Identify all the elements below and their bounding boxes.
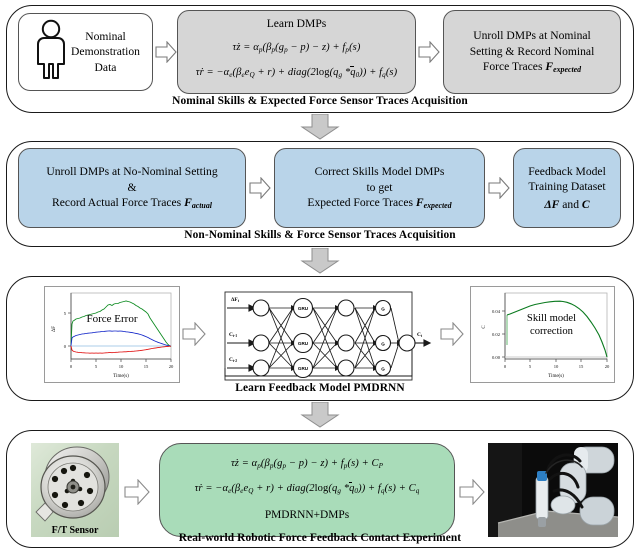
pmdrnn-dmps-caption: PMDRNN+DMPs xyxy=(265,508,349,523)
learn-dmps-heading: Learn DMPs xyxy=(267,16,327,32)
unroll-no-nominal-symbol: Factual xyxy=(184,196,212,209)
section-title-nominal: Nominal Skills & Expected Force Sensor T… xyxy=(0,95,640,107)
correct-symbol: Fexpected xyxy=(416,196,452,209)
box-nominal-demonstration: Nominal Demonstration Data xyxy=(18,13,153,91)
learn-dmps-equation-1: τż = αp(βp(gp − p) − z) + fp(s) xyxy=(233,41,361,55)
svg-text:G: G xyxy=(381,342,385,347)
arrow-network-to-correction-chart xyxy=(440,322,464,346)
svg-text:GRU: GRU xyxy=(298,366,309,371)
svg-text:ΔF: ΔF xyxy=(52,326,57,332)
svg-text:10: 10 xyxy=(554,364,559,369)
svg-text:10: 10 xyxy=(119,364,124,369)
section-title-non-nominal: Non-Nominal Skills & Force Sensor Traces… xyxy=(0,229,640,241)
unroll-no-nominal-line-3-text: Record Actual Force Traces xyxy=(52,196,181,209)
svg-text:15: 15 xyxy=(579,364,584,369)
dataset-line-1: Feedback Model xyxy=(528,164,606,180)
svg-text:ΔFt: ΔFt xyxy=(231,297,240,303)
unroll-nominal-symbol: Fexpected xyxy=(545,60,581,73)
arrow-correct-to-dataset xyxy=(488,177,510,199)
svg-text:20: 20 xyxy=(169,364,174,369)
box-feedback-dataset: Feedback Model Training Dataset ΔF and C xyxy=(513,148,621,228)
svg-text:GRU: GRU xyxy=(298,306,309,311)
correction-caption-line-2: correction xyxy=(530,326,573,337)
learn-dmps-equation-2: τṙ = −αe(βeeQ + r) + diag(2log(qg *q0)) … xyxy=(196,66,397,80)
demo-line-1: Nominal xyxy=(85,30,126,43)
unroll-no-nominal-line-3: Record Actual Force Traces Factual xyxy=(52,195,212,212)
dataset-line-2: Training Dataset xyxy=(528,179,605,195)
chart-skill-model-correction: 0 5 10 15 20 Time(s) 0.00 0.02 0.04 C Sk… xyxy=(470,286,615,383)
svg-text:Time(s): Time(s) xyxy=(548,374,564,379)
box-nominal-demonstration-label: Nominal Demonstration Data xyxy=(71,29,140,76)
svg-text:G: G xyxy=(381,307,385,312)
chart-force-error: 0 5 10 15 20 Time(s) 0 5 ΔF Force Error xyxy=(44,286,180,383)
correct-line-3-text: Expected Force Traces xyxy=(307,196,413,209)
svg-text:Ct: Ct xyxy=(417,332,423,338)
box-correct-skills-model: Correct Skills Model DMPs to get Expecte… xyxy=(274,148,485,228)
image-ft-sensor: F/T Sensor xyxy=(31,443,119,537)
svg-text:15: 15 xyxy=(144,364,149,369)
person-icon xyxy=(33,19,69,86)
unroll-nominal-line-1: Unroll DMPs at Nominal xyxy=(473,28,591,44)
experiment-equation-1: τż = αp(βp(gp − p) − z) + fp(s) + CP xyxy=(231,457,383,471)
dataset-symbol: ΔF and C xyxy=(544,197,589,213)
section-title-experiment: Real-world Robotic Force Feedback Contac… xyxy=(0,532,640,544)
unroll-no-nominal-line-1: Unroll DMPs at No-Nominal Setting xyxy=(46,164,217,180)
correct-line-3: Expected Force Traces Fexpected xyxy=(307,195,451,212)
svg-text:Time(s): Time(s) xyxy=(113,374,129,379)
svg-text:Ct-1: Ct-1 xyxy=(229,332,237,338)
box-unroll-no-nominal: Unroll DMPs at No-Nominal Setting & Reco… xyxy=(18,148,246,228)
box-learn-dmps: Learn DMPs τż = αp(βp(gp − p) − z) + fp(… xyxy=(177,10,416,94)
unroll-no-nominal-line-2: & xyxy=(127,180,136,196)
correct-line-2: to get xyxy=(366,180,392,196)
correction-caption-line-1: Skill model xyxy=(527,313,576,324)
section-title-feedback-model: Learn Feedback Model PMDRNN xyxy=(0,382,640,394)
arrow-demo-to-learn xyxy=(155,41,177,63)
unroll-nominal-line-2: Setting & Record Nominal xyxy=(470,44,595,60)
experiment-equation-2: τṙ = −αe(βeeQ + r) + diag(2log(qg *q0)) … xyxy=(195,482,420,496)
box-pmdrnn-dmps-equations: τż = αp(βp(gp − p) − z) + fp(s) + CP τṙ … xyxy=(159,443,455,537)
svg-text:0.00: 0.00 xyxy=(492,355,501,360)
svg-text:20: 20 xyxy=(605,364,610,369)
chart-correction-caption: Skill model correction xyxy=(493,313,610,338)
arrow-section1-to-section2 xyxy=(300,114,340,140)
arrow-unroll-to-correct xyxy=(249,177,271,199)
correct-line-1: Correct Skills Model DMPs xyxy=(315,164,445,180)
box-unroll-nominal: Unroll DMPs at Nominal Setting & Record … xyxy=(443,10,621,94)
network-pmdrnn: ΔFt Ct-1 Ct-2 xyxy=(207,288,432,386)
svg-text:G: G xyxy=(381,367,385,372)
demo-line-3: Data xyxy=(95,61,117,74)
arrow-chart-to-network xyxy=(182,322,206,346)
arrow-sensor-to-equations xyxy=(124,479,150,505)
svg-text:Ct-2: Ct-2 xyxy=(229,357,237,363)
unroll-nominal-line-3-text: Force Traces xyxy=(483,60,543,73)
image-robot-experiment xyxy=(488,443,618,537)
unroll-nominal-line-3: Force Traces Fexpected xyxy=(483,59,581,76)
arrow-learn-to-unroll xyxy=(418,41,440,63)
chart-force-error-caption: Force Error xyxy=(45,313,179,326)
diagram-canvas: Nominal Demonstration Data Learn DMPs τż… xyxy=(0,0,640,554)
arrow-section2-to-section3 xyxy=(300,248,340,274)
arrow-equations-to-robot xyxy=(459,479,485,505)
svg-text:GRU: GRU xyxy=(298,341,309,346)
demo-line-2: Demonstration xyxy=(71,45,140,58)
arrow-section3-to-section4 xyxy=(300,402,340,428)
